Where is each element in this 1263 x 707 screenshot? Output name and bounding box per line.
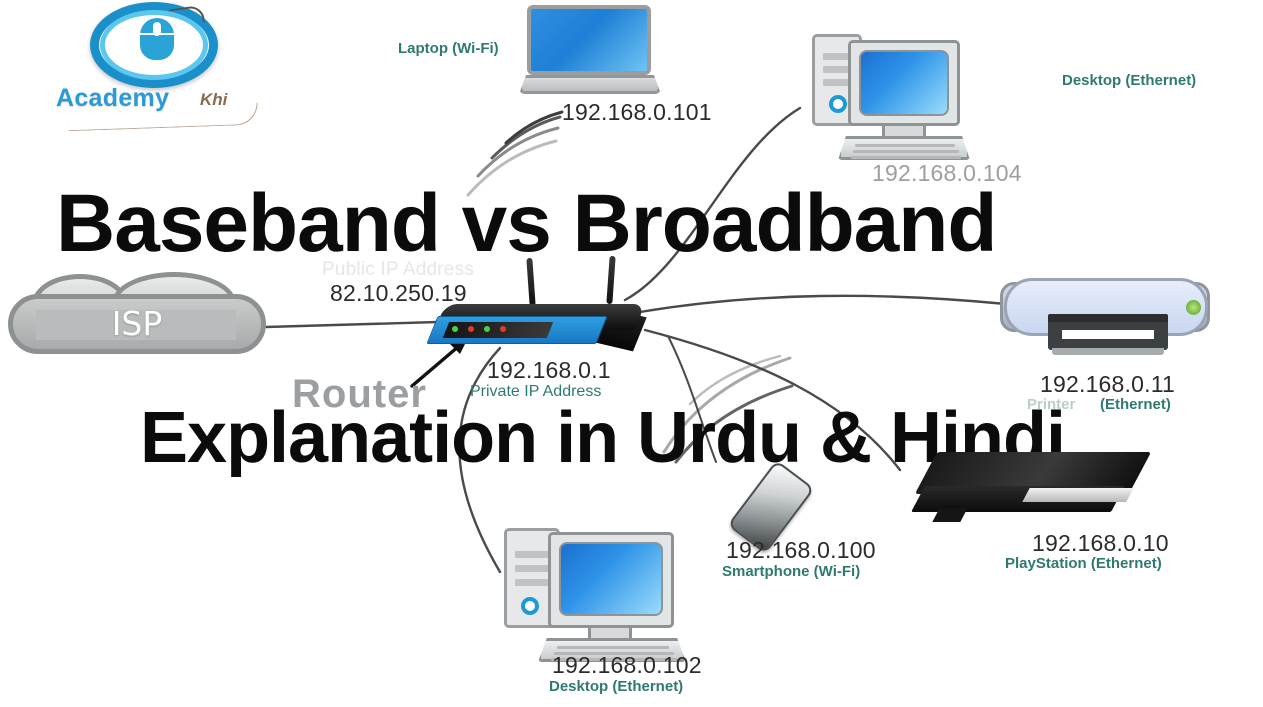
- desktop-bottom-icon: [504, 522, 704, 662]
- laptop-screen: [527, 5, 651, 75]
- power-button-icon: [829, 95, 847, 113]
- pc-monitor: [548, 532, 674, 628]
- laptop-icon: [519, 5, 661, 100]
- desktop-top-device-label: Desktop (Ethernet): [1062, 72, 1196, 89]
- console-foot: [932, 508, 967, 522]
- router-private-ip: 192.168.0.1: [487, 357, 611, 384]
- printer-connection-label: (Ethernet): [1100, 396, 1171, 413]
- channel-logo: Academy Khi: [48, 2, 238, 122]
- printer-paper-sheet: [1062, 330, 1154, 339]
- smartphone-device-label: Smartphone (Wi-Fi): [722, 563, 860, 580]
- router-name-label: Router: [292, 372, 427, 417]
- pc-keyboard: [838, 136, 970, 160]
- desktop-bottom-ip-label: 192.168.0.102: [552, 652, 702, 679]
- smartphone-icon: [737, 470, 825, 542]
- router-led-4: [500, 326, 506, 332]
- pc-monitor: [848, 40, 960, 126]
- printer-tray-lip: [1052, 348, 1164, 355]
- playstation-device-label: PlayStation (Ethernet): [1005, 555, 1162, 572]
- video-title-line-1: Baseband vs Broadband: [56, 177, 996, 271]
- pc-screen: [559, 542, 663, 616]
- router-led-1: [452, 326, 458, 332]
- router-private-ip-caption: Private IP Address: [470, 383, 601, 401]
- console-chrome-strip: [1022, 488, 1133, 502]
- printer-status-led-icon: [1186, 300, 1201, 315]
- game-console-icon: [918, 452, 1150, 530]
- printer-device-label: Printer: [1027, 396, 1075, 413]
- router-display-strip: [443, 322, 553, 338]
- laptop-keyboard-base: [519, 75, 661, 94]
- desktop-top-icon: [812, 28, 972, 164]
- printer-ip-label: 192.168.0.11: [1040, 371, 1175, 398]
- router-led-3: [484, 326, 490, 332]
- desktop-bottom-device-label: Desktop (Ethernet): [549, 678, 683, 695]
- router-led-2: [468, 326, 474, 332]
- laptop-device-label: Laptop (Wi-Fi): [398, 40, 499, 57]
- playstation-ip-label: 192.168.0.10: [1032, 530, 1169, 557]
- power-button-icon: [521, 597, 539, 615]
- wireless-router-icon: [432, 268, 654, 348]
- laptop-ip-label: 192.168.0.101: [562, 99, 712, 126]
- isp-label: ISP: [8, 304, 266, 343]
- thumbnail-canvas: Academy Khi ISP Laptop (Wi-Fi) 192.168.0…: [0, 0, 1263, 707]
- printer-icon: [1000, 278, 1212, 368]
- isp-cloud-node: ISP: [8, 272, 270, 356]
- mouse-wheel-icon: [153, 22, 161, 36]
- smartphone-ip-label: 192.168.0.100: [726, 537, 876, 564]
- pc-screen: [859, 50, 949, 116]
